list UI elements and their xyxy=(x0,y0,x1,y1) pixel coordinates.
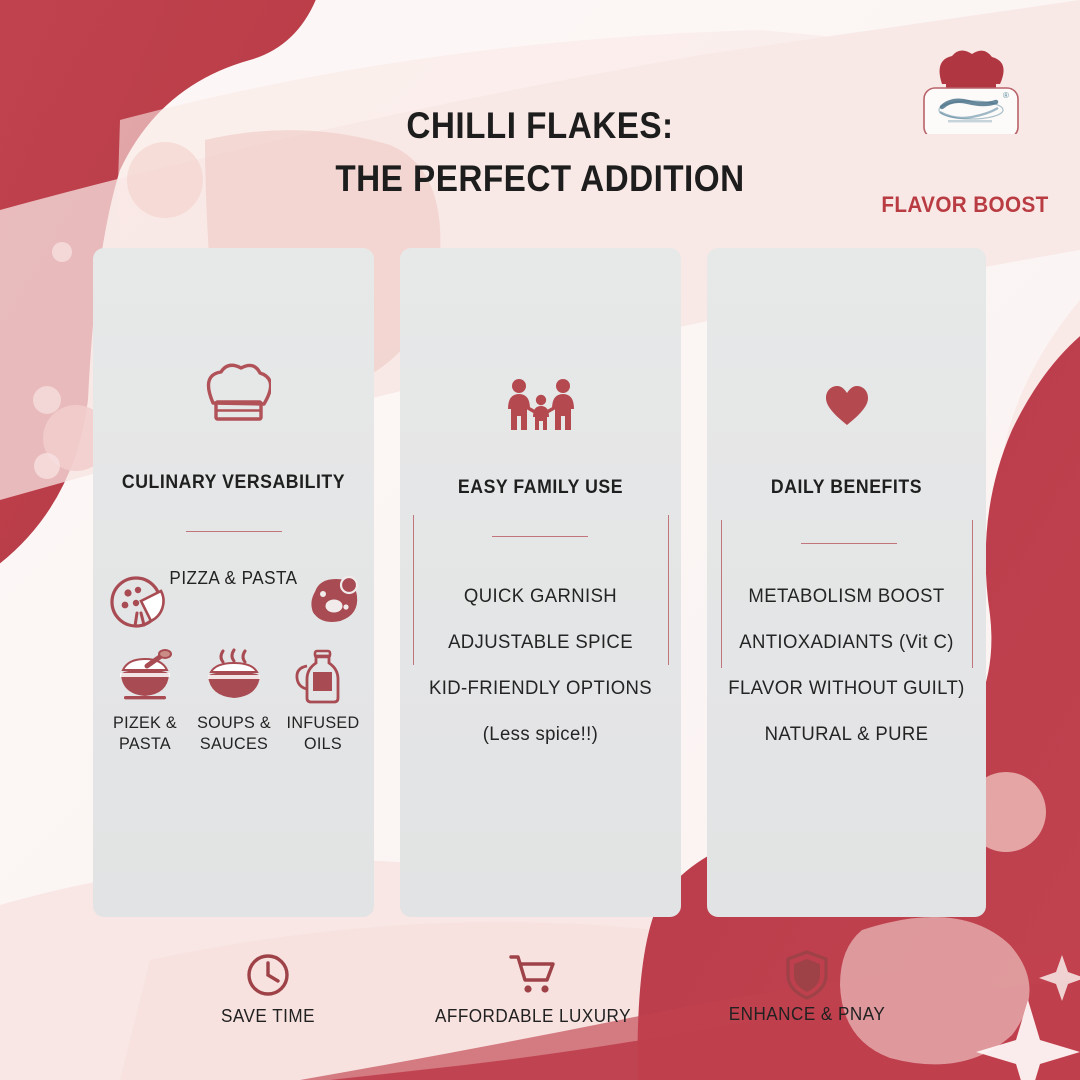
title-line-1: CHILLI FLAKES: xyxy=(406,105,673,146)
rice-bowl-icon xyxy=(114,648,176,704)
trio-label: PIZEK & PASTA xyxy=(103,713,187,754)
chef-hat-icon xyxy=(93,363,374,431)
list-item: FLAVOR WITHOUT GUILT) xyxy=(714,677,979,700)
footer-label: SAVE TIME xyxy=(154,1006,382,1027)
footer-item-enhance-pnay[interactable]: ENHANCE & PNAY xyxy=(687,950,927,1025)
family-icon xyxy=(400,378,681,434)
shopping-cart-icon xyxy=(413,952,653,998)
trio-item-soups-sauces: SOUPS & SAUCES xyxy=(190,648,278,754)
logo-wordmark: FLAVOR BOOST xyxy=(878,192,1053,218)
trio-label: SOUPS & SAUCES xyxy=(192,713,276,754)
card-title-family: EASY FAMILY USE xyxy=(410,477,671,499)
card-divider xyxy=(186,531,282,532)
card-title-culinary: CULINARY VERSABILITY xyxy=(103,472,364,494)
shield-icon xyxy=(687,950,927,996)
card-divider xyxy=(492,536,588,537)
list-item: ADJUSTABLE SPICE xyxy=(407,631,674,654)
oil-bottle-icon xyxy=(292,648,354,704)
chef-hat-icon xyxy=(940,50,1004,89)
card-divider xyxy=(801,543,897,544)
sauce-plate-icon xyxy=(306,574,362,628)
footer-label: ENHANCE & PNAY xyxy=(693,1004,921,1025)
footer-label: AFFORDABLE LUXURY xyxy=(419,1006,647,1027)
list-item: NATURAL & PURE xyxy=(714,723,979,746)
benefit-list-family: QUICK GARNISH ADJUSTABLE SPICE KID-FRIEN… xyxy=(400,585,681,769)
trio-item-infused-oils: INFUSED OILS xyxy=(279,648,367,754)
trio-item-pizek-pasta: PIZEK & PASTA xyxy=(101,648,189,754)
logo-mark: ® xyxy=(872,50,1058,134)
feature-trio: PIZEK & PASTA SOUPS & SAUCES xyxy=(93,648,374,773)
footer-item-save-time[interactable]: SAVE TIME xyxy=(148,952,388,1027)
list-item: QUICK GARNISH xyxy=(407,585,674,608)
list-item: METABOLISM BOOST xyxy=(714,585,979,608)
card-easy-family-use[interactable] xyxy=(400,248,681,917)
heart-icon xyxy=(707,385,986,427)
list-item: (Less spice!!) xyxy=(407,723,674,746)
trio-label: INFUSED OILS xyxy=(281,713,365,754)
card-title-benefits: DAILY BENEFITS xyxy=(717,477,976,499)
registered-mark: ® xyxy=(1003,91,1009,100)
benefit-list-daily: METABOLISM BOOST ANTIOXADIANTS (Vit C) F… xyxy=(707,585,986,769)
list-item: ANTIOXADIANTS (Vit C) xyxy=(714,631,979,654)
clock-icon xyxy=(148,952,388,998)
brand-logo: ® FLAVOR BOOST xyxy=(872,50,1058,172)
soup-bowl-icon xyxy=(203,648,265,704)
footer-item-affordable-luxury[interactable]: AFFORDABLE LUXURY xyxy=(413,952,653,1027)
card-daily-benefits[interactable] xyxy=(707,248,986,917)
list-item: KID-FRIENDLY OPTIONS xyxy=(407,677,674,700)
feature-row-pizza-pasta: PIZZA & PASTA xyxy=(93,568,374,633)
